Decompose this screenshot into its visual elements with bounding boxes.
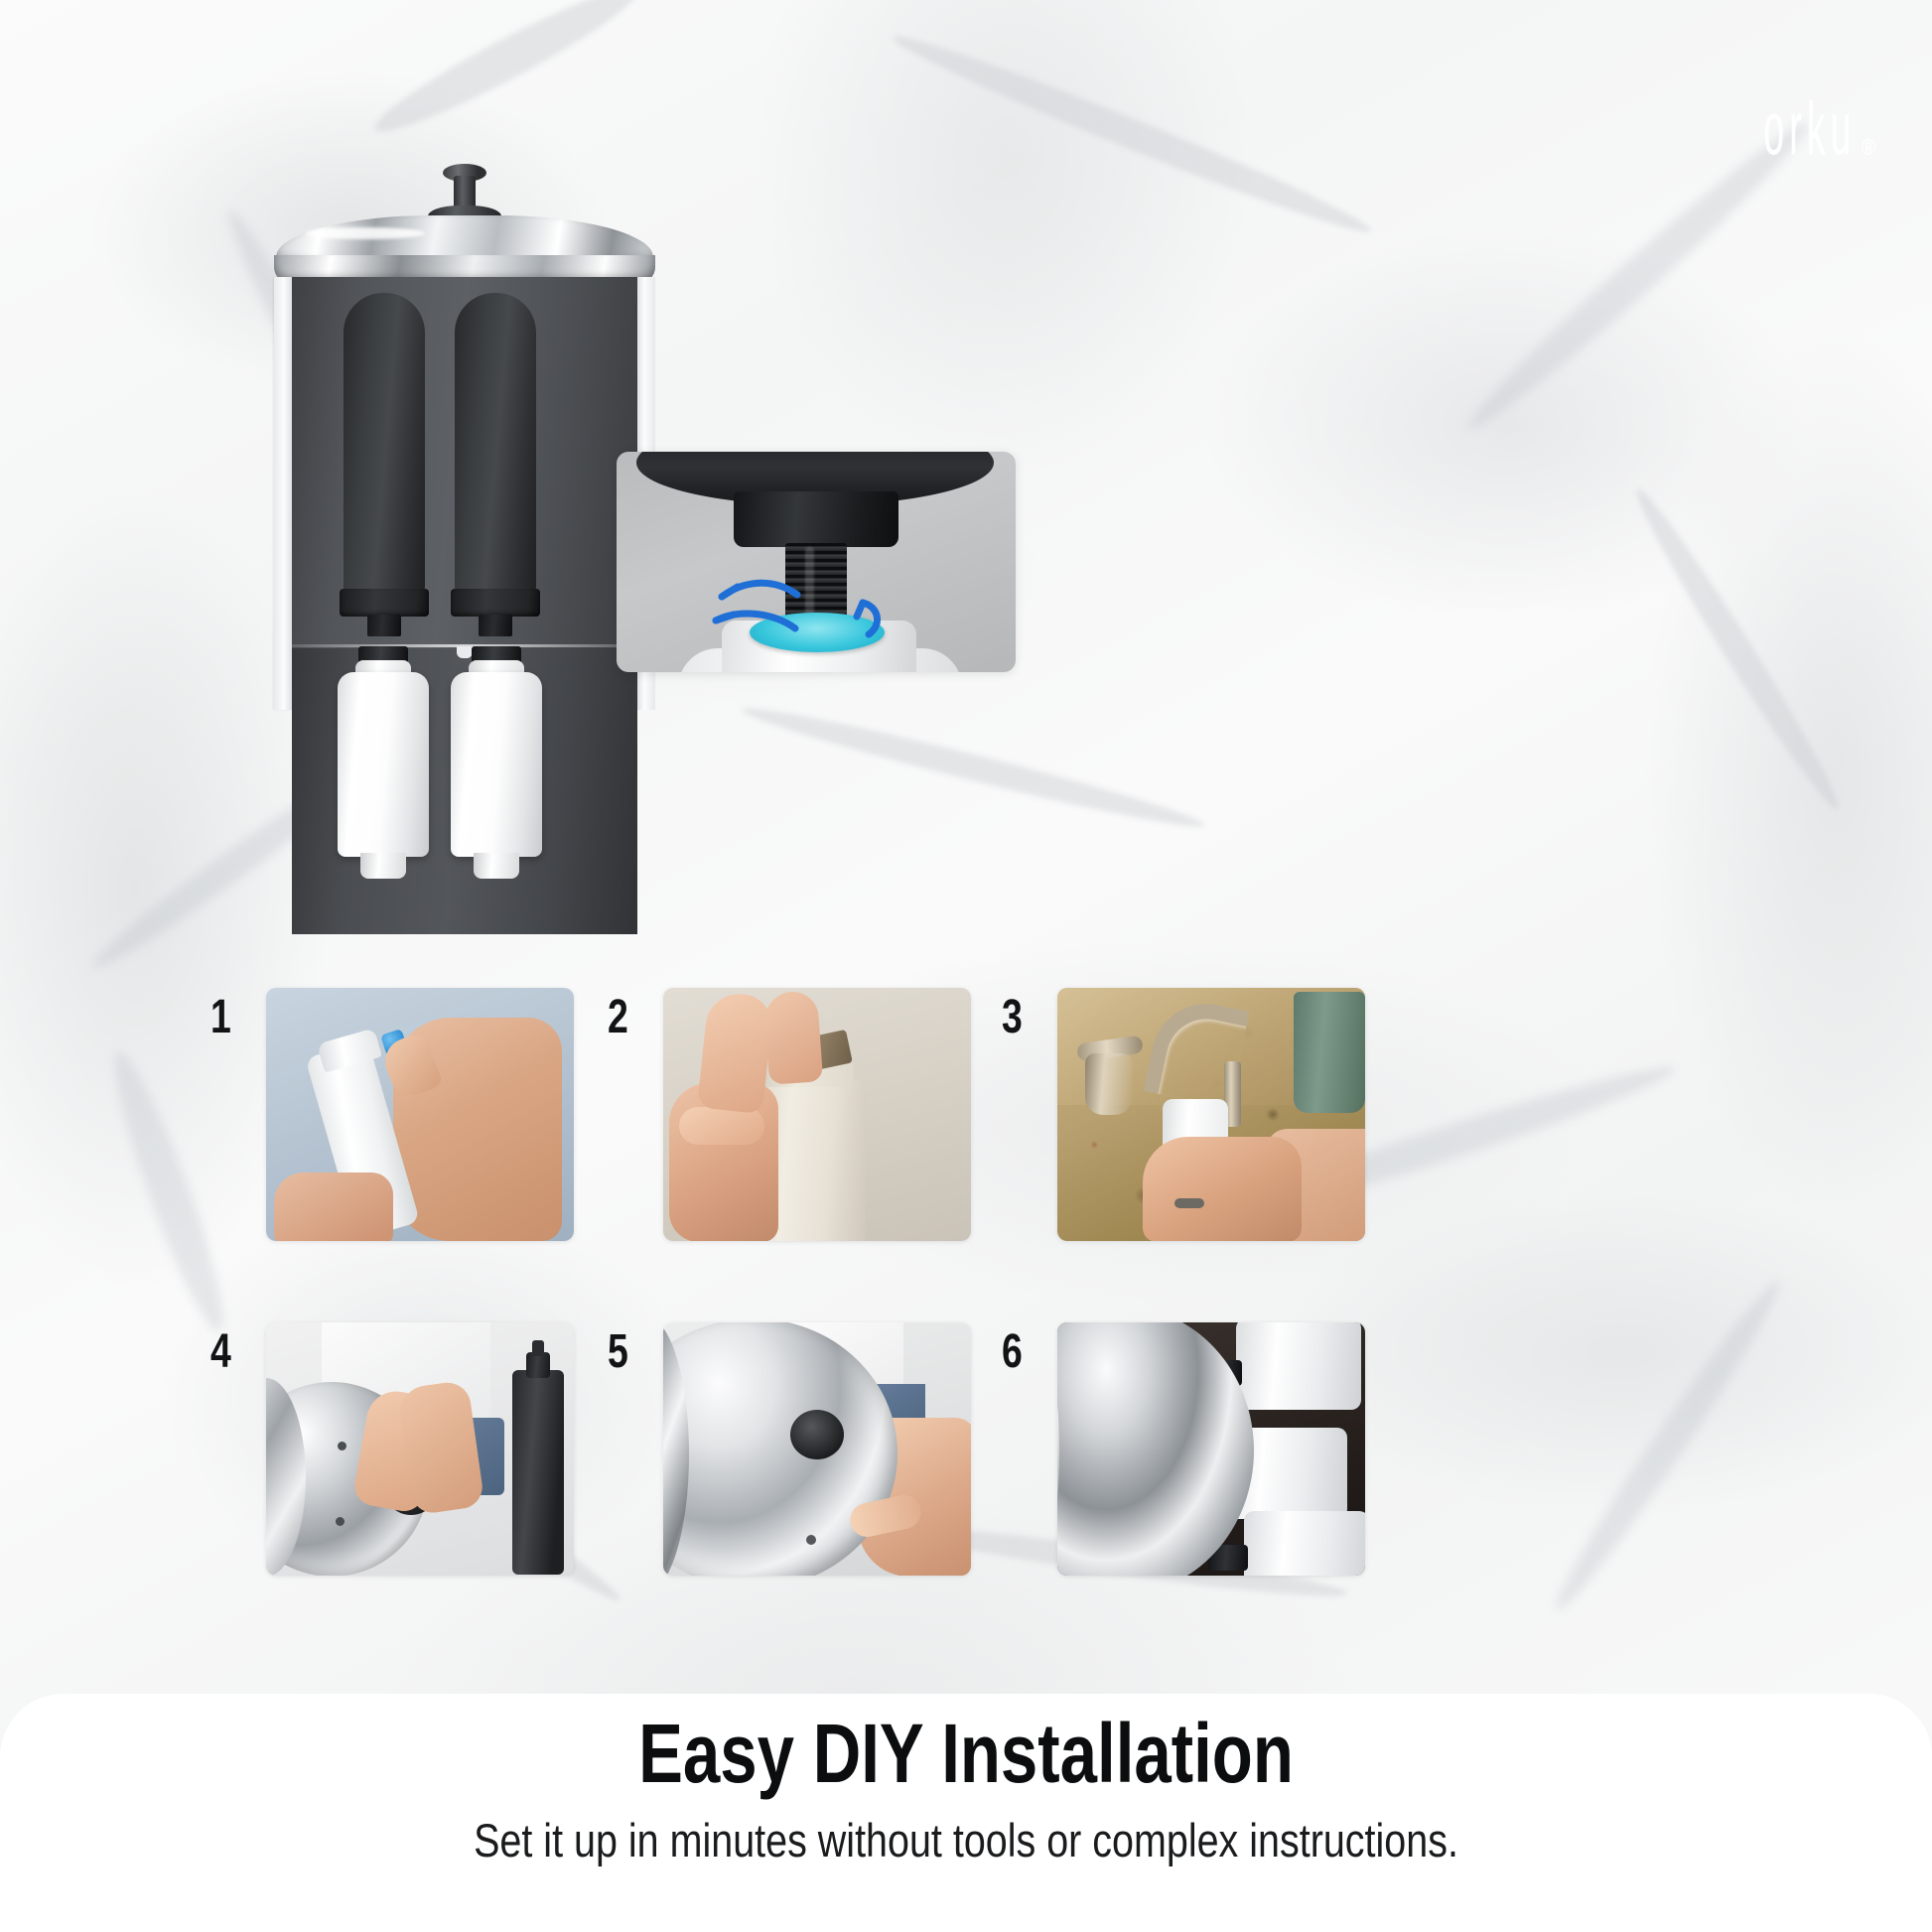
step-cell-5[interactable]: 5 [633,1322,1031,1576]
step-image-1 [266,988,574,1241]
step-image-6 [1057,1322,1365,1576]
left-hand [274,1173,393,1241]
faucet-handle-base [1085,1053,1133,1115]
lid-hole-lower [336,1517,345,1526]
step-number-4: 4 [210,1324,230,1379]
fluoride-filter-tip-left [360,853,406,879]
headline: Easy DIY Installation [194,1710,1739,1797]
carbon-nipple-right [479,615,512,636]
step-number-6: 6 [1002,1324,1022,1379]
ring [1174,1198,1204,1208]
registered-trademark-icon: ® [1862,139,1876,158]
step-image-2 [663,988,971,1241]
step-cell-2[interactable]: 2 [633,988,1031,1241]
carbon-filter-element-right [455,293,536,591]
footer-panel: Easy DIY Installation Set it up in minut… [0,1694,1932,1932]
inset-hub [734,491,898,547]
step-cell-4[interactable]: 4 [236,1322,633,1576]
lid-hole [806,1535,816,1545]
hero-product-image [266,164,663,938]
step-cell-1[interactable]: 1 [236,988,633,1241]
step-number-1: 1 [210,990,230,1044]
step-image-3 [1057,988,1365,1241]
fluoride-filter-right [451,672,542,857]
carbon-filter-element-left [344,293,425,591]
green-cup [1294,992,1365,1113]
element-knob [532,1340,544,1356]
subheadline: Set it up in minutes without tools or co… [155,1813,1778,1867]
step-number-2: 2 [608,990,627,1044]
drip-nub [457,646,473,658]
step-grid-row-2: 4 5 6 [0,1322,1932,1576]
carbon-collar-right [451,589,540,617]
index-finger [763,990,823,1085]
rotation-arrows-icon [712,563,920,652]
white-filter-top [1236,1322,1361,1410]
step-image-4 [266,1322,574,1576]
carbon-nipple-left [367,615,401,636]
brand-logo-text: orku [1763,96,1857,164]
step-grid-row-1: 1 2 3 [0,988,1932,1241]
lid-highlight [306,227,425,239]
step-cell-6[interactable]: 6 [1028,1322,1425,1576]
knuckles [679,1107,764,1145]
lid-hole-upper [338,1442,346,1450]
fluoride-filter-tip-right [474,853,519,879]
carbon-collar-left [340,589,429,617]
white-filter-bottom [1244,1511,1365,1576]
black-filter-element [512,1370,564,1575]
inset-detail-card [617,452,1016,672]
step-number-5: 5 [608,1324,627,1379]
thumb [697,991,774,1114]
hand [1143,1137,1302,1241]
brand-logo: orku ® [1763,96,1872,164]
step-image-5 [663,1322,971,1576]
chrome-lid [1057,1322,1254,1576]
center-hub-fitting [790,1410,844,1459]
fluoride-filter-left [338,672,429,857]
step-number-3: 3 [1002,990,1022,1044]
step-cell-3[interactable]: 3 [1028,988,1425,1241]
